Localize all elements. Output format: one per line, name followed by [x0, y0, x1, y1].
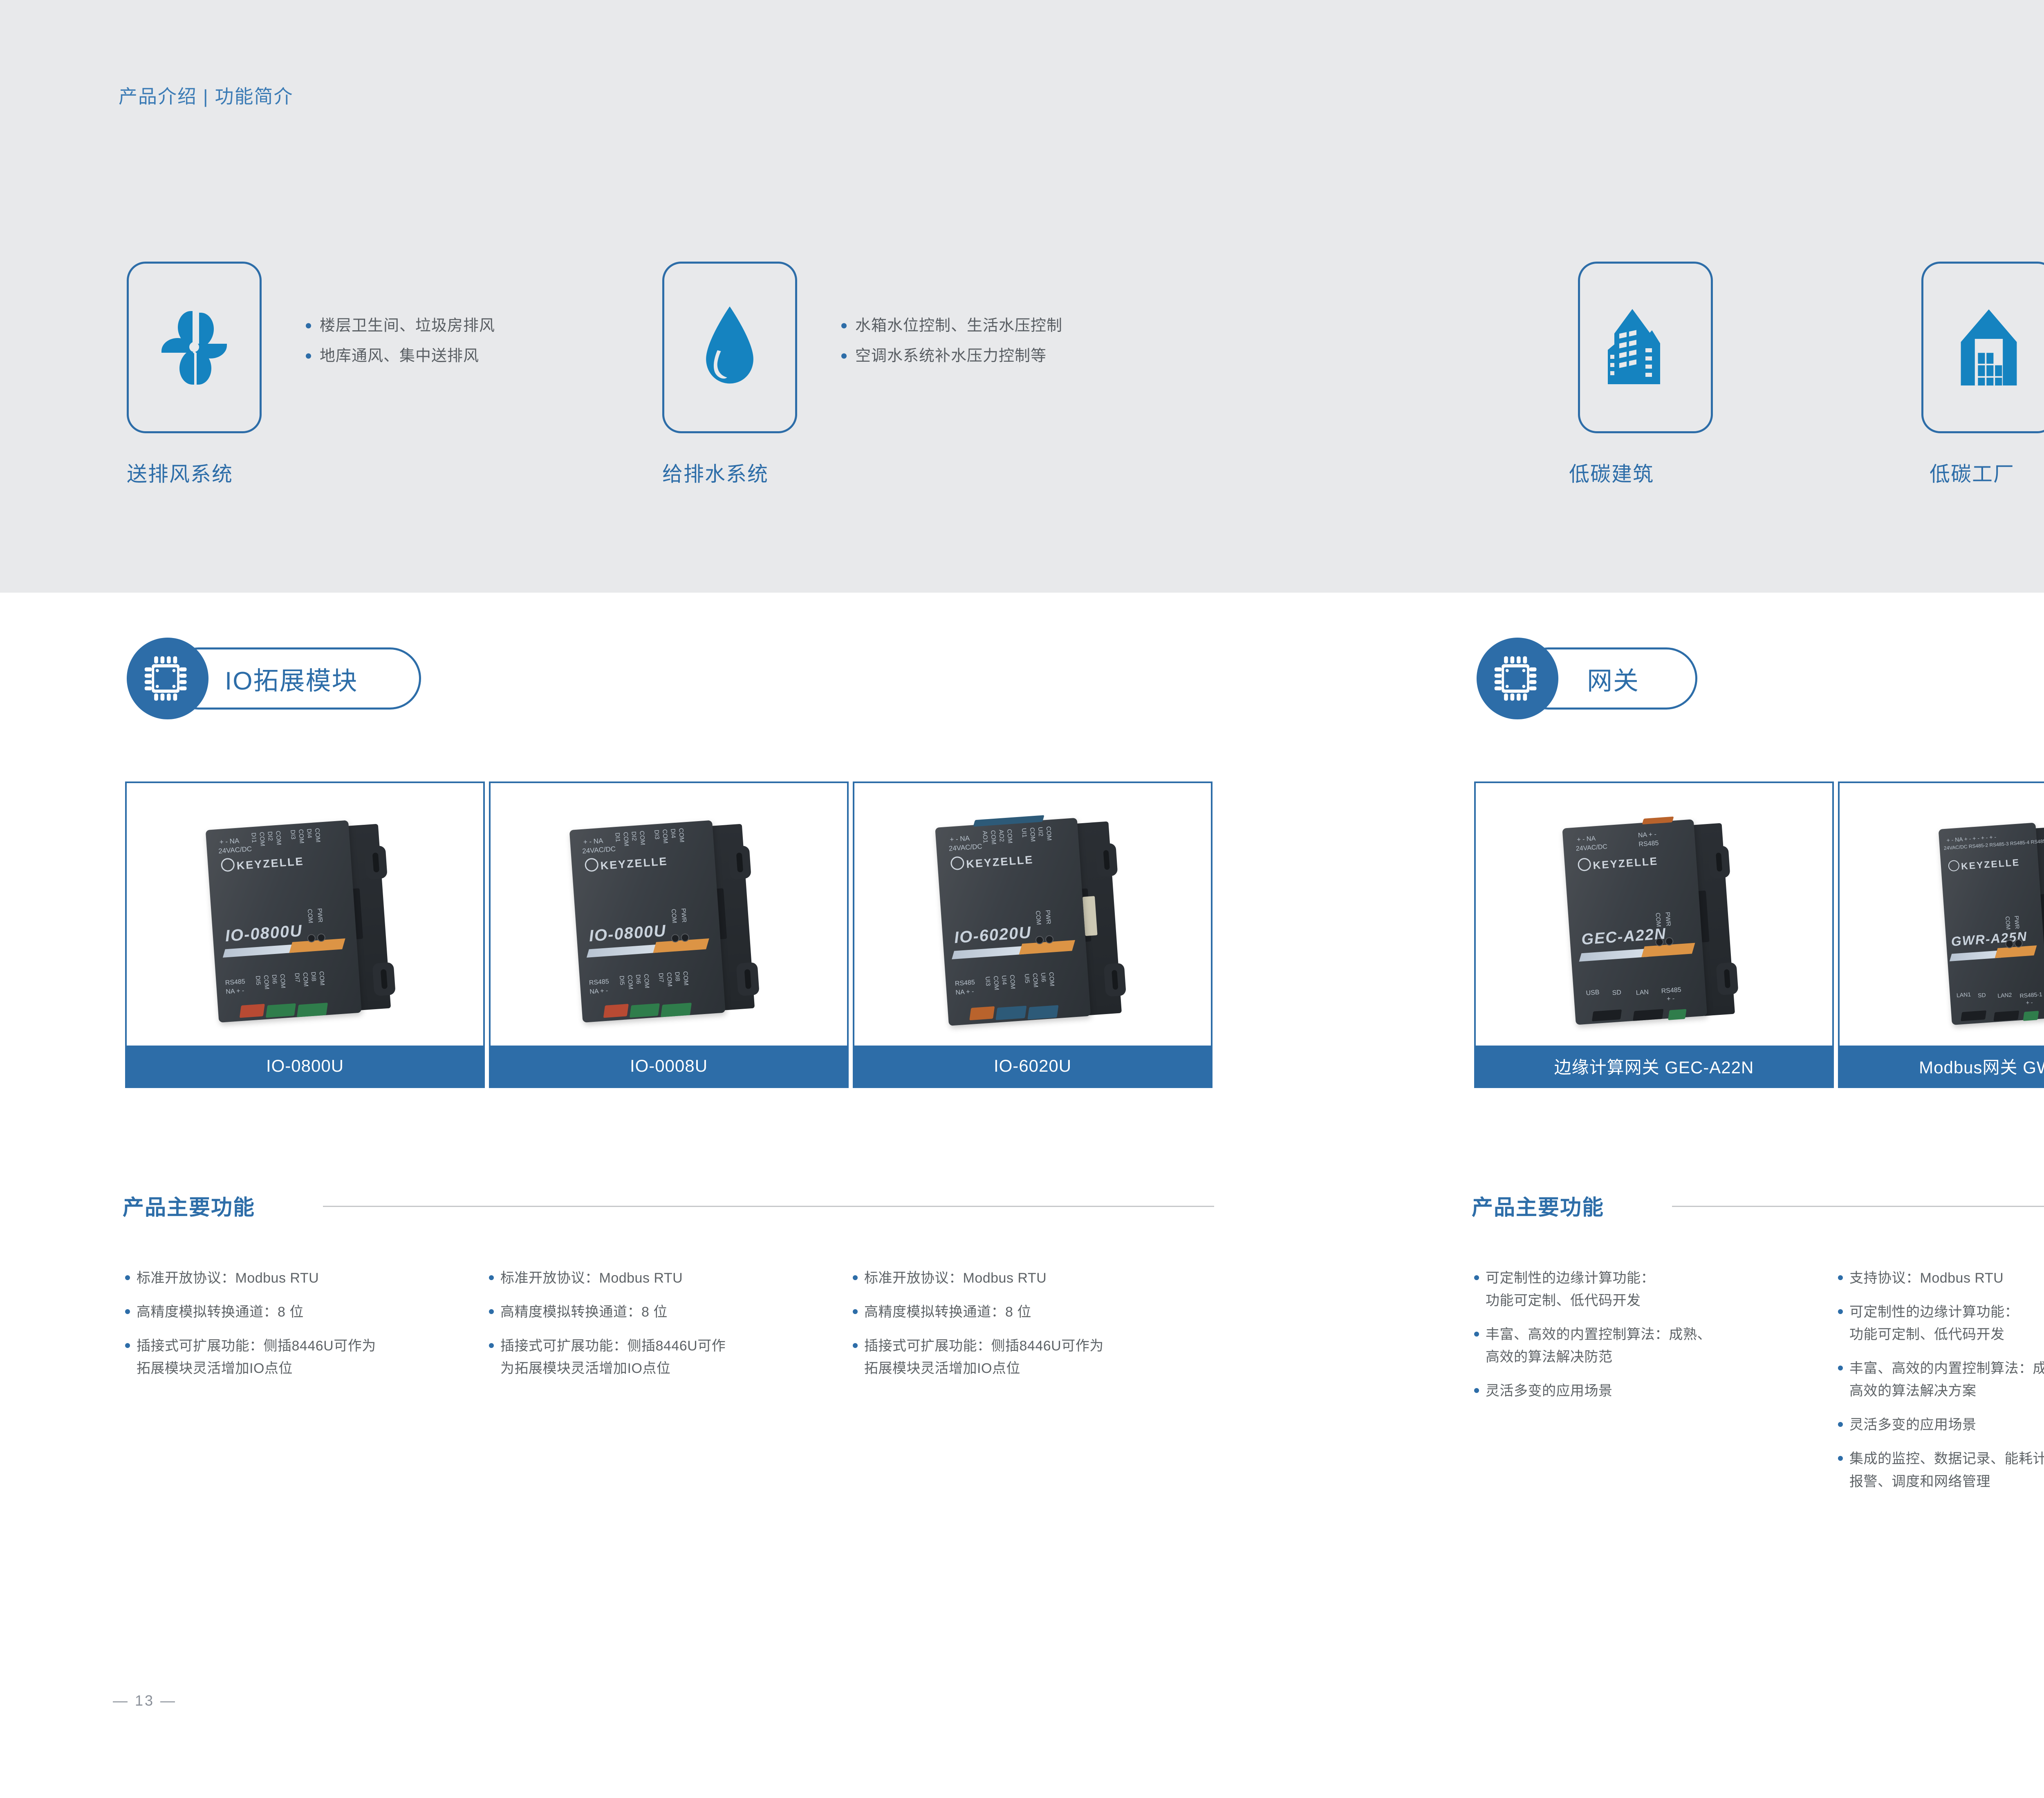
section-header-gateway: 网关 [1477, 638, 1730, 719]
factory-icon [1950, 302, 2028, 392]
target-tile-factory [1921, 262, 2044, 433]
product-card[interactable]: + - NA 24VAC/DC AO1 COM AO2 COM UI1 COM … [853, 781, 1213, 1088]
feature-item: 灵活多变的应用场景 [1836, 1414, 2044, 1436]
features-title-gateway: 产品主要功能 [1472, 1190, 1604, 1221]
features-column-gateway-2: 支持协议：Modbus RTU 可定制性的边缘计算功能： 功能可定制、低代码开发… [1836, 1267, 2044, 1505]
office-buildings-icon [1605, 302, 1686, 392]
product-caption: IO-6020U [854, 1046, 1211, 1086]
product-caption: IO-0008U [491, 1046, 847, 1086]
scenario-tile-ventilation [127, 262, 262, 433]
product-caption: 边缘计算网关 GEC-A22N [1476, 1046, 1832, 1086]
features-title-io: 产品主要功能 [123, 1190, 255, 1221]
product-image-io0800u: + - NA 24VAC/DC DI1 COM DI2 COM DI3 COM … [127, 783, 483, 1046]
feature-item: 插接式可扩展功能：侧插8446U可作 为拓展模块灵活增加IO点位 [486, 1335, 822, 1380]
scenario-tile-water [662, 262, 797, 433]
product-card[interactable]: + - NA + - + - + - + - 24VAC/DC RS485-2 … [1838, 781, 2044, 1088]
chip-icon [127, 638, 208, 719]
product-caption: Modbus网关 GWR-A25N [1840, 1046, 2044, 1086]
bullet-item: 地库通风、集中送排风 [303, 341, 495, 371]
product-image-io0008u: + - NA 24VAC/DC DI1 COM DI2 COM DI3 COM … [491, 783, 847, 1046]
feature-item: 标准开放协议：Modbus RTU [850, 1267, 1194, 1290]
feature-item: 插接式可扩展功能：侧插8446U可作为 拓展模块灵活增加IO点位 [123, 1335, 458, 1380]
product-image-gwr-a25n: + - NA + - + - + - + - 24VAC/DC RS485-2 … [1840, 783, 2044, 1046]
feature-item: 插接式可扩展功能：侧插8446U可作为 拓展模块灵活增加IO点位 [850, 1335, 1194, 1380]
section-title-io: IO拓展模块 [225, 647, 358, 710]
product-image-io6020u: + - NA 24VAC/DC AO1 COM AO2 COM UI1 COM … [854, 783, 1211, 1046]
target-label-factory: 低碳工厂 [1930, 458, 2015, 487]
feature-item: 标准开放协议：Modbus RTU [123, 1267, 458, 1290]
feature-item: 灵活多变的应用场景 [1472, 1380, 1811, 1402]
features-column-io-1: 标准开放协议：Modbus RTU 高精度模拟转换通道：8 位 插接式可扩展功能… [123, 1267, 458, 1391]
top-grey-band [0, 0, 2044, 593]
bullet-item: 楼层卫生间、垃圾房排风 [303, 311, 495, 341]
page-number-left: — 13 — [113, 1692, 177, 1709]
brochure-spread: 产品介绍 | 功能简介 产品介绍 | 功能简介 送排风系统 楼层卫生间、垃圾房排… [0, 0, 2044, 1798]
bullet-item: 水箱水位控制、生活水压控制 [838, 311, 1062, 341]
feature-item: 丰富、高效的内置控制算法：成熟、 高效的算法解决方案 [1836, 1357, 2044, 1402]
chip-icon [1477, 638, 1558, 719]
target-tile-building [1578, 262, 1713, 433]
scenario-bullets-ventilation: 楼层卫生间、垃圾房排风 地库通风、集中送排风 [303, 311, 495, 371]
target-label-building: 低碳建筑 [1569, 458, 1654, 487]
features-column-gateway-1: 可定制性的边缘计算功能： 功能可定制、低代码开发 丰富、高效的内置控制算法：成熟… [1472, 1267, 1811, 1414]
section-header-io: IO拓展模块 [127, 638, 437, 719]
bullet-item: 空调水系统补水压力控制等 [838, 341, 1062, 371]
feature-item: 高精度模拟转换通道：8 位 [486, 1301, 822, 1323]
features-column-io-2: 标准开放协议：Modbus RTU 高精度模拟转换通道：8 位 插接式可扩展功能… [486, 1267, 822, 1391]
feature-item: 集成的监控、数据记录、能耗计量、 报警、调度和网络管理 [1836, 1448, 2044, 1493]
page-header-left: 产品介绍 | 功能简介 [119, 82, 294, 109]
product-image-gec-a22n: + - NA 24VAC/DC NA + - RS485 KEYZELLE GE… [1476, 783, 1832, 1046]
section-title-gateway: 网关 [1587, 647, 1639, 710]
feature-item: 标准开放协议：Modbus RTU [486, 1267, 822, 1290]
feature-item: 可定制性的边缘计算功能： 功能可定制、低代码开发 [1836, 1301, 2044, 1346]
feature-item: 可定制性的边缘计算功能： 功能可定制、低代码开发 [1472, 1267, 1811, 1312]
feature-item: 丰富、高效的内置控制算法：成熟、 高效的算法解决防范 [1472, 1323, 1811, 1368]
features-rule [323, 1206, 1214, 1207]
features-column-io-3: 标准开放协议：Modbus RTU 高精度模拟转换通道：8 位 插接式可扩展功能… [850, 1267, 1194, 1391]
feature-item: 高精度模拟转换通道：8 位 [123, 1301, 458, 1323]
scenario-label-water: 给排水系统 [662, 458, 769, 487]
fan-icon [153, 305, 235, 390]
scenario-label-ventilation: 送排风系统 [127, 458, 233, 487]
features-rule [1672, 1206, 2044, 1207]
product-card[interactable]: + - NA 24VAC/DC DI1 COM DI2 COM DI3 COM … [489, 781, 849, 1088]
product-caption: IO-0800U [127, 1046, 483, 1086]
product-card[interactable]: + - NA 24VAC/DC DI1 COM DI2 COM DI3 COM … [125, 781, 485, 1088]
lower-white-area [0, 593, 2044, 1798]
scenario-bullets-water: 水箱水位控制、生活水压控制 空调水系统补水压力控制等 [838, 311, 1062, 371]
feature-item: 高精度模拟转换通道：8 位 [850, 1301, 1194, 1323]
water-drop-icon [699, 304, 760, 392]
feature-item: 支持协议：Modbus RTU [1836, 1267, 2044, 1290]
product-card[interactable]: + - NA 24VAC/DC NA + - RS485 KEYZELLE GE… [1474, 781, 1834, 1088]
